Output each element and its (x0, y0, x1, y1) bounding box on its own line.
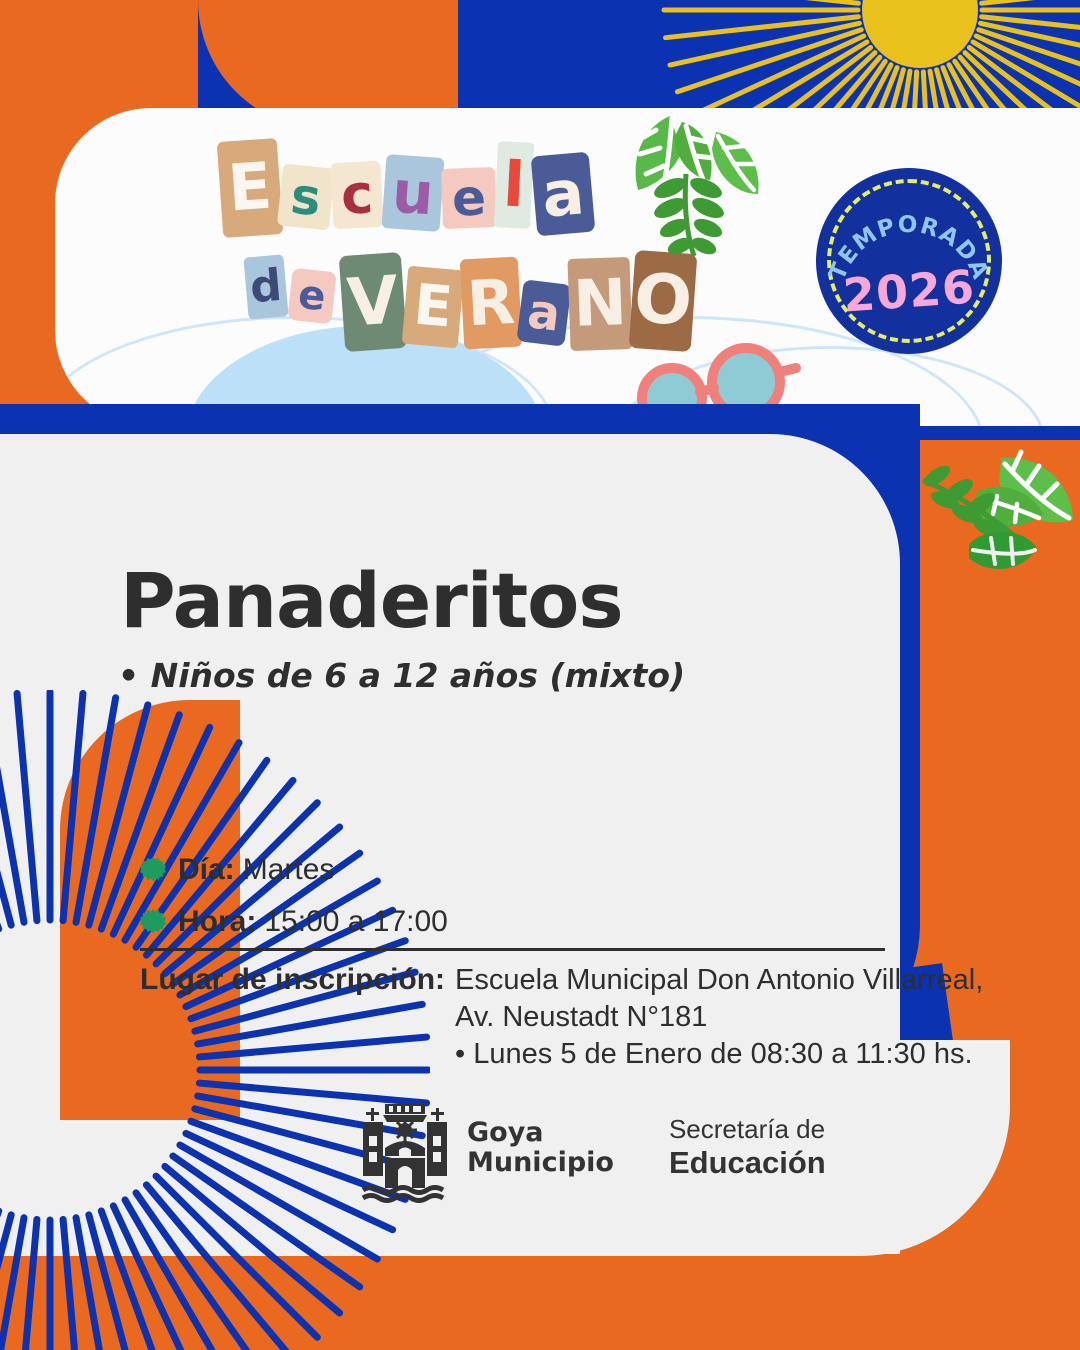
poster-root: Escuela de VERaNO (0, 0, 1080, 1350)
info-label-hora: Hora: (178, 905, 256, 939)
municipality-line2: Municipio (467, 1148, 614, 1178)
info-row-dia: Día: Martes (140, 850, 448, 890)
secretariat-line2: Educación (669, 1145, 826, 1181)
goya-crest-icon (355, 1092, 455, 1204)
page-title: Panaderitos (120, 556, 623, 645)
info-label-dia: Día: (178, 853, 235, 887)
starburst-bullet-icon (140, 857, 166, 883)
info-row-hora: Hora: 15:00 a 17:00 (140, 902, 448, 942)
info-list: Día: Martes Hora: 15:00 a 17:00 (140, 850, 448, 954)
registration-block: Lugar de inscripción: Escuela Municipal … (140, 962, 980, 1073)
registration-line: Av. Neustadt N°181 (455, 999, 983, 1036)
section-divider (140, 948, 885, 951)
registration-line: • Lunes 5 de Enero de 08:30 a 11:30 hs. (455, 1036, 983, 1073)
registration-label: Lugar de inscripción: (140, 962, 445, 1073)
info-value-hora: 15:00 a 17:00 (264, 905, 448, 939)
starburst-bullet-icon (140, 909, 166, 935)
registration-line: Escuela Municipal Don Antonio Villarreal… (455, 962, 983, 999)
footer-logos: Goya Municipio Secretaría de Educación (355, 1092, 826, 1204)
content-layer: Panaderitos • Niños de 6 a 12 años (mixt… (0, 0, 1080, 1350)
municipality-line1: Goya (467, 1118, 614, 1148)
municipality-text: Goya Municipio (467, 1118, 614, 1178)
secretariat-line1: Secretaría de (669, 1115, 826, 1145)
page-subtitle: • Niños de 6 a 12 años (mixto) (118, 656, 685, 695)
info-value-dia: Martes (243, 853, 335, 887)
registration-lines: Escuela Municipal Don Antonio Villarreal… (455, 962, 983, 1073)
secretariat-text: Secretaría de Educación (669, 1115, 826, 1181)
